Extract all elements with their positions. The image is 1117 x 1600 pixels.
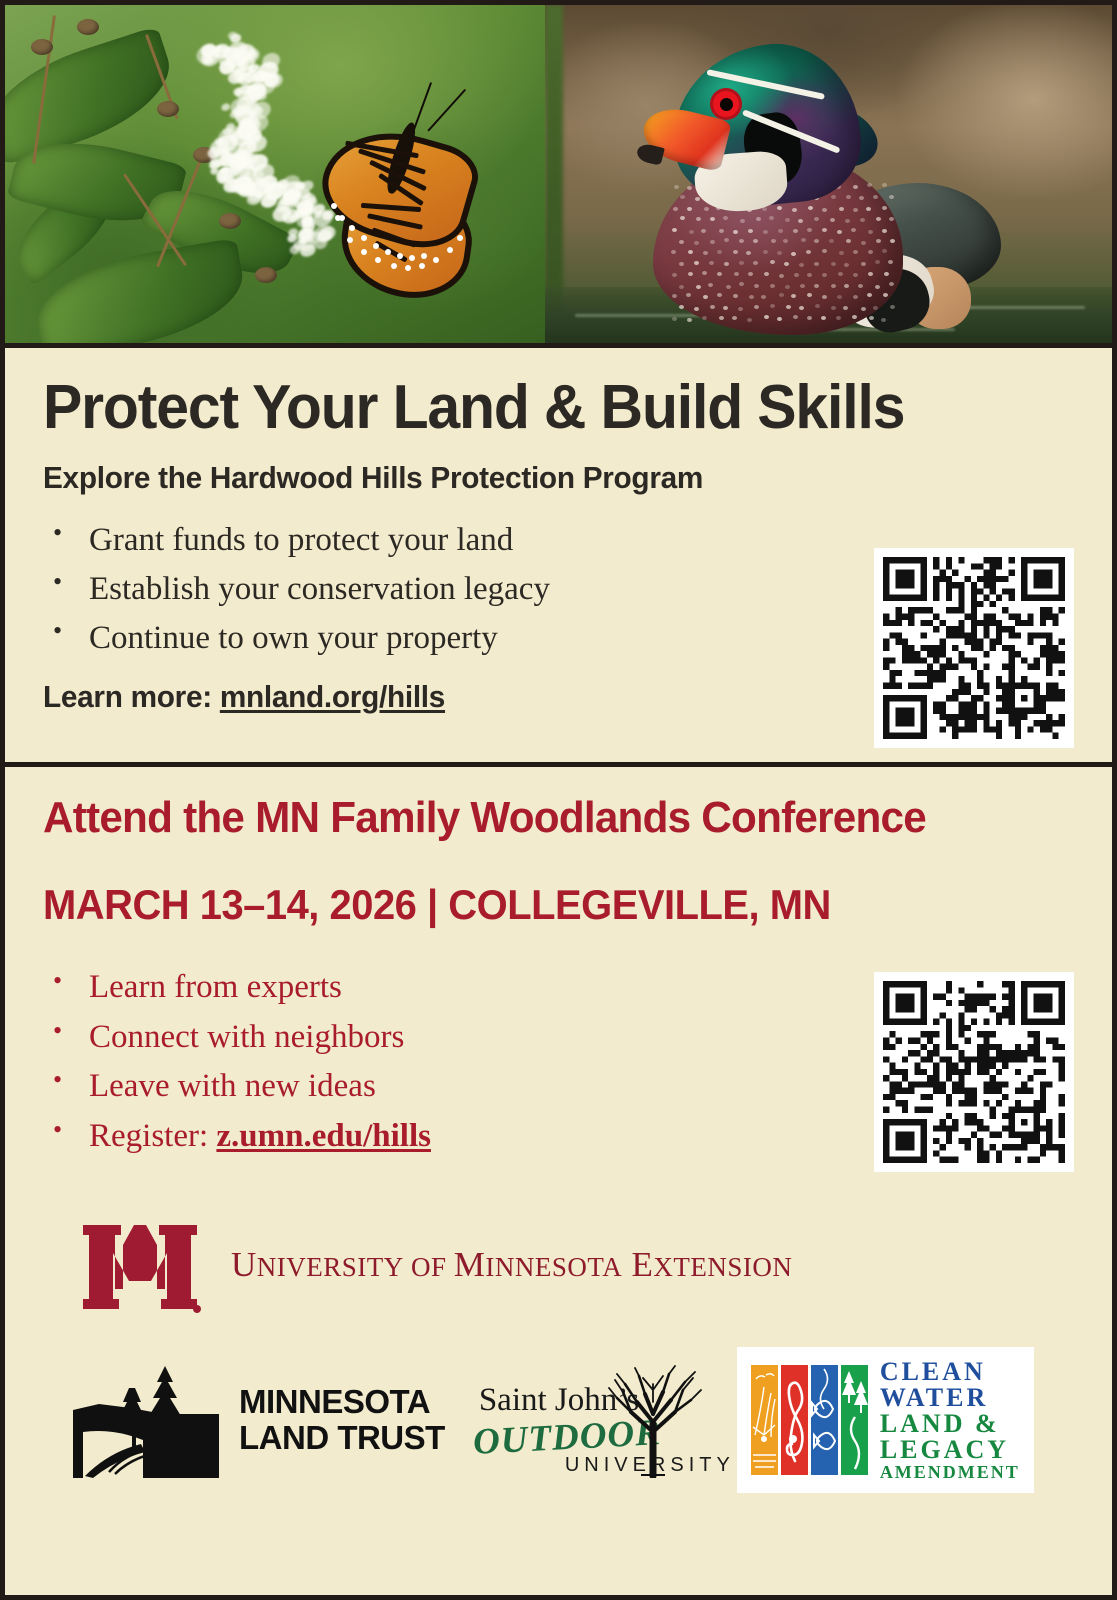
- prairie-sun-icon: [751, 1365, 778, 1475]
- breast-speckle: [846, 195, 851, 199]
- minnesota-land-trust-wordmark: MINNESOTA LAND TRUST: [239, 1384, 445, 1455]
- breast-speckle: [853, 295, 858, 299]
- qr-code-umn-register[interactable]: [874, 972, 1074, 1172]
- breast-speckle: [710, 305, 715, 309]
- breast-speckle: [829, 239, 834, 243]
- wing-spot: [361, 235, 367, 241]
- breast-speckle: [763, 230, 768, 234]
- breast-speckle: [679, 305, 684, 309]
- breast-speckle: [696, 285, 701, 289]
- mlt-line-2: LAND TRUST: [239, 1420, 445, 1456]
- wing-spot: [349, 225, 355, 231]
- breast-speckle: [786, 305, 791, 309]
- breast-speckle: [740, 219, 745, 223]
- breast-speckle: [753, 261, 758, 265]
- breast-speckle: [680, 216, 685, 220]
- register-label: Register:: [89, 1118, 216, 1154]
- breast-speckle: [831, 284, 836, 288]
- breast-speckle: [831, 306, 836, 310]
- section-subtitle: Explore the Hardwood Hills Protection Pr…: [43, 460, 1033, 496]
- mnland-url-link[interactable]: mnland.org/hills: [220, 679, 445, 714]
- breast-speckle: [837, 230, 842, 234]
- breast-speckle: [784, 262, 789, 266]
- seed-bud-icon: [31, 39, 53, 55]
- pines-and-shoreline-icon: [69, 1356, 227, 1484]
- breast-speckle: [875, 260, 880, 264]
- breast-speckle: [822, 295, 827, 299]
- breast-speckle: [694, 307, 699, 311]
- breast-speckle: [785, 285, 790, 289]
- breast-speckle: [719, 316, 724, 320]
- clean-water-land-legacy-logo: CLEAN WATER LAND & LEGACY AMENDMENT: [737, 1347, 1034, 1493]
- breast-speckle: [806, 250, 811, 254]
- breast-speckle: [791, 294, 796, 298]
- duck-pupil: [720, 98, 733, 111]
- breast-speckle: [717, 250, 722, 254]
- breast-speckle: [747, 318, 752, 322]
- breast-speckle: [733, 294, 738, 298]
- breast-speckle: [889, 282, 894, 286]
- breast-speckle: [739, 282, 744, 286]
- wing-spot: [433, 257, 439, 263]
- breast-speckle: [688, 272, 693, 276]
- breast-speckle: [785, 218, 790, 222]
- breast-speckle: [853, 185, 858, 189]
- wing-spot: [421, 253, 427, 259]
- breast-speckle: [723, 216, 728, 220]
- breast-speckle: [723, 306, 728, 310]
- breast-speckle: [798, 219, 803, 223]
- bare-tree-icon: [597, 1362, 709, 1478]
- breast-speckle: [726, 285, 731, 289]
- breast-speckle: [873, 195, 878, 199]
- legacy-line-1: CLEAN: [880, 1359, 1020, 1385]
- breast-speckle: [884, 272, 889, 276]
- breast-speckle: [702, 316, 707, 320]
- breast-speckle: [703, 251, 708, 255]
- breast-speckle: [764, 315, 769, 319]
- breast-speckle: [694, 241, 699, 245]
- breast-speckle: [861, 307, 866, 311]
- breast-speckle: [708, 283, 713, 287]
- breast-speckle: [739, 239, 744, 243]
- breast-speckle: [808, 206, 813, 210]
- register-url-link[interactable]: z.umn.edu/hills: [216, 1118, 431, 1154]
- breast-speckle: [831, 262, 836, 266]
- breast-speckle: [853, 208, 858, 212]
- breast-speckle: [770, 304, 775, 308]
- breast-speckle: [882, 249, 887, 253]
- breast-speckle: [792, 208, 797, 212]
- breast-speckle: [701, 229, 706, 233]
- breast-speckle: [779, 274, 784, 278]
- breast-speckle: [836, 316, 841, 320]
- block-m-icon: [77, 1219, 203, 1311]
- breast-speckle: [761, 295, 766, 299]
- breast-speckle: [873, 306, 878, 310]
- wing-spot: [391, 263, 397, 269]
- mlt-line-1: MINNESOTA: [239, 1384, 445, 1420]
- breast-speckle: [694, 261, 699, 265]
- breast-speckle: [733, 250, 738, 254]
- breast-speckle: [814, 217, 819, 221]
- breast-speckle: [746, 251, 751, 255]
- breast-speckle: [807, 316, 812, 320]
- wing-spot: [335, 215, 341, 221]
- wing-spot: [457, 235, 463, 241]
- breast-speckle: [801, 238, 806, 242]
- breast-speckle: [839, 251, 844, 255]
- treble-clef-icon: [781, 1365, 808, 1475]
- breast-speckle: [671, 250, 676, 254]
- flower-floret: [220, 102, 231, 112]
- legacy-line-5: AMENDMENT: [880, 1463, 1020, 1481]
- wing-spot: [375, 257, 381, 263]
- breast-speckle: [844, 263, 849, 267]
- breast-speckle: [888, 260, 893, 264]
- wing-spot: [397, 253, 403, 259]
- breast-speckle: [688, 250, 693, 254]
- breast-speckle: [689, 230, 694, 234]
- poster-flyer: Protect Your Land & Build Skills Explore…: [0, 0, 1117, 1600]
- breast-speckle: [754, 284, 759, 288]
- breast-speckle: [695, 197, 700, 201]
- breast-speckle: [748, 272, 753, 276]
- breast-speckle: [890, 239, 895, 243]
- breast-speckle: [814, 284, 819, 288]
- breast-speckle: [748, 229, 753, 233]
- breast-speckle: [839, 207, 844, 211]
- partner-logos: MINNESOTA LAND TRUST Saint John’s OUTDOO…: [43, 1347, 1074, 1493]
- breast-speckle: [791, 252, 796, 256]
- breast-speckle: [815, 304, 820, 308]
- breast-speckle: [732, 316, 737, 320]
- seed-bud-icon: [77, 19, 99, 35]
- breast-speckle: [867, 293, 872, 297]
- breast-speckle: [679, 262, 684, 266]
- wing-spot: [347, 237, 353, 243]
- seed-bud-icon: [157, 101, 179, 117]
- breast-speckle: [861, 262, 866, 266]
- breast-speckle: [799, 263, 804, 267]
- section-conference: Attend the MN Family Woodlands Conferenc…: [5, 767, 1112, 1493]
- breast-speckle: [837, 295, 842, 299]
- breast-speckle: [843, 306, 848, 310]
- breast-speckle: [814, 262, 819, 266]
- breast-speckle: [779, 293, 784, 297]
- antenna-icon: [427, 89, 466, 132]
- breast-speckle: [807, 293, 812, 297]
- breast-speckle: [717, 293, 722, 297]
- breast-speckle: [844, 284, 849, 288]
- breast-speckle: [777, 251, 782, 255]
- breast-speckle: [687, 186, 692, 190]
- wing-spot: [373, 243, 379, 249]
- wing-spot: [447, 247, 453, 253]
- breast-speckle: [822, 273, 827, 277]
- photo-monarch-butterfly: [5, 5, 545, 343]
- monarch-butterfly-icon: [305, 85, 535, 315]
- breast-speckle: [821, 316, 826, 320]
- breast-speckle: [673, 207, 678, 211]
- breast-speckle: [702, 271, 707, 275]
- legacy-wordmark: CLEAN WATER LAND & LEGACY AMENDMENT: [880, 1359, 1020, 1481]
- breast-speckle: [853, 250, 858, 254]
- breast-speckle: [764, 272, 769, 276]
- breast-speckle: [866, 207, 871, 211]
- breast-speckle: [868, 250, 873, 254]
- photo-wood-duck: [545, 5, 1112, 343]
- breast-speckle: [703, 295, 708, 299]
- breast-speckle: [860, 218, 865, 222]
- breast-speckle: [869, 316, 874, 320]
- breast-speckle: [822, 228, 827, 232]
- breast-speckle: [814, 239, 819, 243]
- breast-speckle: [756, 217, 761, 221]
- legacy-line-4: LEGACY: [880, 1437, 1020, 1463]
- breast-speckle: [769, 216, 774, 220]
- breast-speckle: [794, 273, 799, 277]
- breast-speckle: [861, 241, 866, 245]
- breast-speckle: [838, 272, 843, 276]
- breast-speckle: [868, 230, 873, 234]
- photo-band: [5, 5, 1112, 343]
- breast-speckle: [778, 229, 783, 233]
- wing-spot: [331, 203, 337, 209]
- breast-speckle: [859, 196, 864, 200]
- conference-title: Attend the MN Family Woodlands Conferenc…: [43, 793, 1033, 843]
- breast-speckle: [882, 206, 887, 210]
- umn-extension-wordmark: UNIVERSITY OF MINNESOTA EXTENSION: [231, 1245, 792, 1285]
- breast-speckle: [754, 305, 759, 309]
- breast-speckle: [783, 239, 788, 243]
- qr-code-mnland[interactable]: [874, 548, 1074, 748]
- breast-speckle: [867, 183, 872, 187]
- breast-speckle: [738, 307, 743, 311]
- breast-speckle: [679, 285, 684, 289]
- breast-speckle: [830, 218, 835, 222]
- wing-spot: [405, 265, 411, 271]
- breast-speckle: [739, 261, 744, 265]
- breast-speckle: [704, 207, 709, 211]
- wing-spot: [361, 249, 367, 255]
- breast-speckle: [799, 306, 804, 310]
- breast-speckle: [882, 229, 887, 233]
- breast-speckle: [680, 195, 685, 199]
- breast-speckle: [672, 228, 677, 232]
- breast-speckle: [710, 240, 715, 244]
- breast-speckle: [763, 250, 768, 254]
- section-protection-program: Protect Your Land & Build Skills Explore…: [5, 348, 1112, 762]
- wing-spot: [419, 263, 425, 269]
- breast-speckle: [853, 273, 858, 277]
- breast-speckle: [672, 294, 677, 298]
- breast-speckle: [672, 273, 677, 277]
- breast-speckle: [734, 272, 739, 276]
- saint-johns-outdoor-university-logo: Saint John’s OUTDOOR UNIVERSITY: [467, 1356, 715, 1484]
- breast-speckle: [709, 261, 714, 265]
- legacy-line-3: LAND &: [880, 1411, 1020, 1437]
- breast-speckle: [822, 249, 827, 253]
- breast-speckle: [868, 272, 873, 276]
- breast-speckle: [770, 260, 775, 264]
- breast-speckle: [724, 262, 729, 266]
- breast-speckle: [777, 206, 782, 210]
- pine-trees-icon: [841, 1365, 868, 1475]
- breast-speckle: [696, 217, 701, 221]
- breast-speckle: [851, 228, 856, 232]
- breast-speckle: [753, 239, 758, 243]
- breast-speckle: [845, 219, 850, 223]
- breast-speckle: [793, 315, 798, 319]
- ripple-icon: [965, 306, 1085, 309]
- breast-speckle: [846, 239, 851, 243]
- breast-speckle: [889, 217, 894, 221]
- fish-icon: [811, 1365, 838, 1475]
- breast-speckle: [771, 239, 776, 243]
- breast-speckle: [777, 317, 782, 321]
- umn-extension-logo: UNIVERSITY OF MINNESOTA EXTENSION: [43, 1219, 1074, 1311]
- breast-speckle: [793, 229, 798, 233]
- wing-spot: [385, 249, 391, 255]
- breast-speckle: [875, 285, 880, 289]
- breast-speckle: [749, 295, 754, 299]
- breast-speckle: [876, 239, 881, 243]
- breast-speckle: [800, 284, 805, 288]
- legacy-line-2: WATER: [880, 1385, 1020, 1411]
- conference-date-location: MARCH 13–14, 2026 | COLLEGEVILLE, MN: [43, 881, 1022, 929]
- breast-speckle: [679, 240, 684, 244]
- breast-speckle: [724, 238, 729, 242]
- breast-speckle: [686, 293, 691, 297]
- breast-speckle: [883, 293, 888, 297]
- breast-speckle: [770, 284, 775, 288]
- minnesota-land-trust-logo: MINNESOTA LAND TRUST: [69, 1356, 445, 1484]
- breast-speckle: [733, 230, 738, 234]
- breast-speckle: [807, 273, 812, 277]
- wing-spot: [409, 255, 415, 261]
- breast-speckle: [822, 208, 827, 212]
- breast-speckle: [858, 284, 863, 288]
- learn-more-label: Learn more:: [43, 679, 212, 714]
- breast-speckle: [831, 195, 836, 199]
- legacy-color-bars: [751, 1365, 868, 1475]
- breast-speckle: [687, 207, 692, 211]
- seed-bud-icon: [255, 267, 277, 283]
- breast-speckle: [852, 315, 857, 319]
- breast-speckle: [687, 318, 692, 322]
- page-title: Protect Your Land & Build Skills: [43, 376, 1022, 440]
- breast-speckle: [876, 217, 881, 221]
- breast-speckle: [719, 229, 724, 233]
- breast-speckle: [717, 272, 722, 276]
- breast-speckle: [710, 217, 715, 221]
- breast-speckle: [807, 228, 812, 232]
